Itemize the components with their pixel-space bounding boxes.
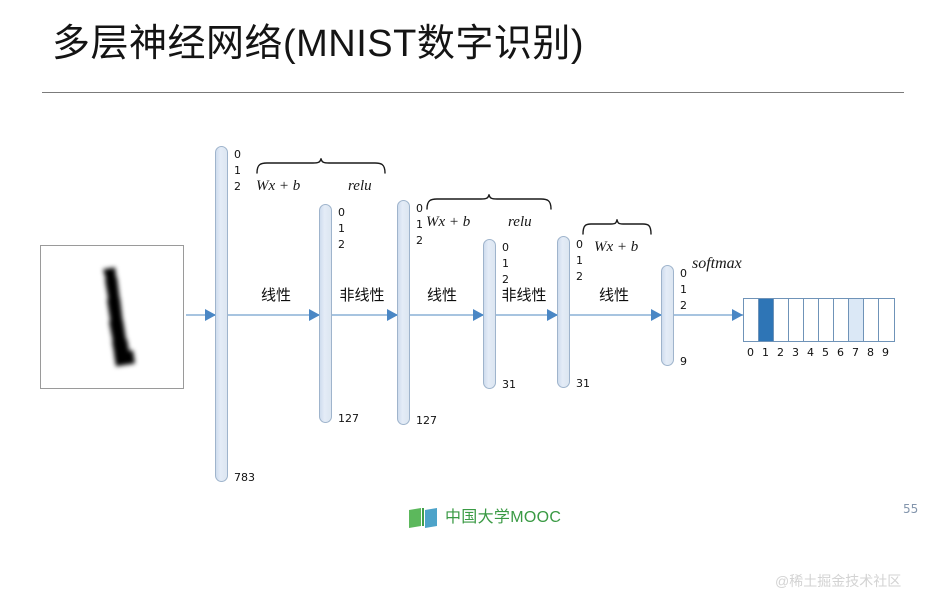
softmax-tick-6: 6 — [833, 345, 848, 361]
softmax-tick-1: 1 — [758, 345, 773, 361]
layer-bar-output-top-index: 012 — [680, 266, 687, 314]
softmax-cell-7 — [849, 299, 864, 341]
math-label-softmax: softmax — [692, 254, 742, 274]
mooc-logo: 中国大学MOOC — [408, 505, 561, 531]
softmax-axis-labels: 0 1 2 3 4 5 6 7 8 9 — [743, 345, 893, 361]
brace-layer-1 — [255, 158, 387, 174]
layer-bar-hidden2-pre: 012 31 — [483, 239, 496, 389]
watermark: @稀土掘金技术社区 — [775, 571, 901, 591]
math-label-wxb-2: Wx + b — [426, 212, 470, 232]
mooc-logo-text: 中国大学MOOC — [445, 507, 561, 529]
math-label-wxb-1: Wx + b — [256, 176, 300, 196]
softmax-tick-9: 9 — [878, 345, 893, 361]
softmax-cell-6 — [834, 299, 849, 341]
math-label-relu-2: relu — [508, 212, 532, 232]
layer-bar-hidden1-post-top-index: 012 — [416, 201, 423, 249]
layer-bar-output-bottom-index: 9 — [680, 355, 687, 369]
softmax-tick-2: 2 — [773, 345, 788, 361]
arrow-hidden2-pre-to-post — [496, 309, 558, 321]
layer-bar-output: 012 9 — [661, 265, 674, 366]
math-label-wxb-3: Wx + b — [594, 237, 638, 257]
softmax-tick-8: 8 — [863, 345, 878, 361]
arrow-hidden1-post-to-hidden2-pre — [410, 309, 484, 321]
softmax-cell-9 — [879, 299, 894, 341]
layer-bar-input: 012 783 — [215, 146, 228, 482]
mnist-input-image — [40, 245, 184, 389]
layer-bar-hidden2-pre-bottom-index: 31 — [502, 378, 516, 392]
layer-bar-hidden1-pre: 012 127 — [319, 204, 332, 423]
layer-bar-hidden2-post-top-index: 012 — [576, 237, 583, 285]
softmax-cell-0 — [744, 299, 759, 341]
arrow-image-to-input — [186, 309, 216, 321]
softmax-tick-7: 7 — [848, 345, 863, 361]
op-label-linear-3: 线性 — [590, 286, 638, 306]
layer-bar-hidden2-pre-top-index: 012 — [502, 240, 509, 288]
layer-bar-hidden1-post: 012 127 — [397, 200, 410, 425]
book-icon — [408, 507, 438, 529]
arrow-hidden1-pre-to-post — [332, 309, 398, 321]
softmax-output-bar — [743, 298, 895, 342]
math-label-relu-1: relu — [348, 176, 372, 196]
op-label-linear-1: 线性 — [252, 286, 300, 306]
op-label-linear-2: 线性 — [418, 286, 466, 306]
arrow-input-to-hidden1-pre — [228, 309, 320, 321]
softmax-tick-4: 4 — [803, 345, 818, 361]
layer-bar-input-bottom-index: 783 — [234, 471, 255, 485]
layer-bar-hidden1-pre-top-index: 012 — [338, 205, 345, 253]
softmax-cell-8 — [864, 299, 879, 341]
layer-bar-hidden1-post-bottom-index: 127 — [416, 414, 437, 428]
softmax-cell-3 — [789, 299, 804, 341]
softmax-tick-0: 0 — [743, 345, 758, 361]
layer-bar-hidden2-post: 012 31 — [557, 236, 570, 388]
op-label-nonlinear-2: 非线性 — [492, 286, 556, 306]
softmax-cell-5 — [819, 299, 834, 341]
softmax-cell-4 — [804, 299, 819, 341]
softmax-cell-2 — [774, 299, 789, 341]
arrow-hidden2-post-to-output — [570, 309, 662, 321]
softmax-tick-3: 3 — [788, 345, 803, 361]
page-number: 55 — [903, 501, 918, 517]
softmax-tick-5: 5 — [818, 345, 833, 361]
layer-bar-hidden1-pre-bottom-index: 127 — [338, 412, 359, 426]
softmax-cell-1 — [759, 299, 774, 341]
layer-bar-input-top-index: 012 — [234, 147, 241, 195]
op-label-nonlinear-1: 非线性 — [330, 286, 394, 306]
handwritten-digit-glyph — [47, 249, 177, 379]
brace-layer-2 — [425, 194, 553, 210]
layer-bar-hidden2-post-bottom-index: 31 — [576, 377, 590, 391]
arrow-output-to-softmax — [674, 309, 743, 321]
brace-layer-3 — [581, 219, 653, 235]
